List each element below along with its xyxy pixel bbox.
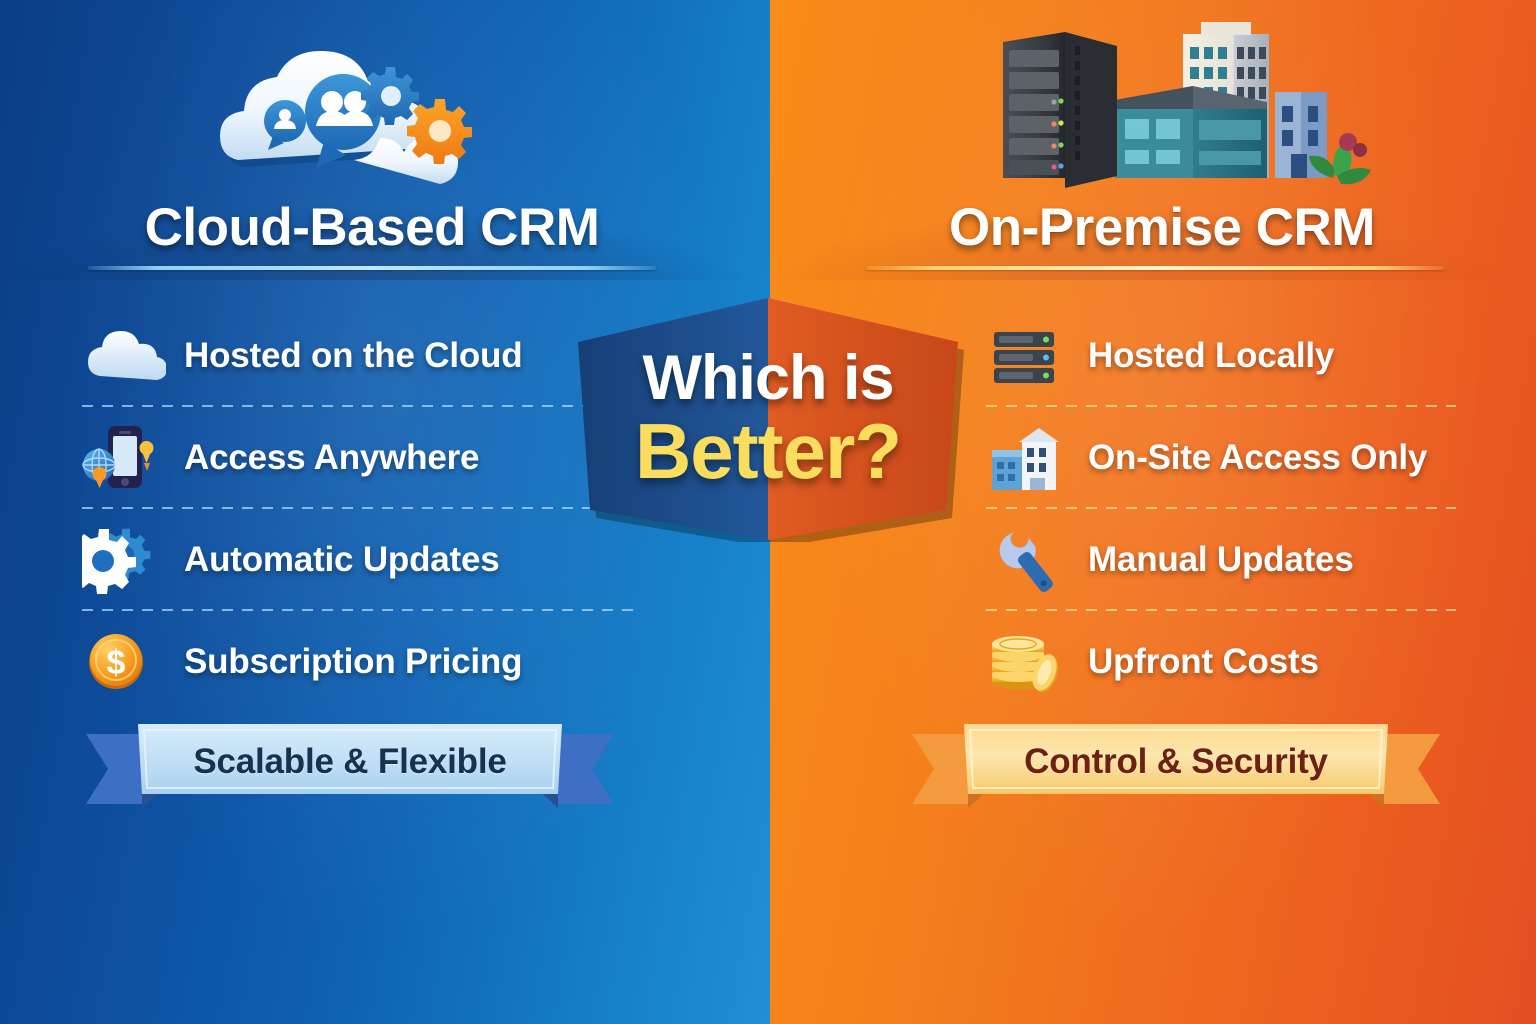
title-rule-left bbox=[88, 266, 656, 270]
svg-text:$: $ bbox=[107, 644, 126, 682]
control-security-ribbon: Control & Security bbox=[912, 716, 1440, 812]
on-premise-feature-list: Hosted Locally bbox=[986, 305, 1456, 713]
cloud-crm-illustration bbox=[198, 14, 538, 189]
list-item-label: Access Anywhere bbox=[184, 438, 479, 478]
list-item-label: Hosted on the Cloud bbox=[184, 336, 522, 376]
server-rack-icon bbox=[986, 318, 1070, 394]
mobile-globe-icon bbox=[82, 420, 166, 496]
scalable-flexible-ribbon: Scalable & Flexible bbox=[86, 716, 614, 812]
ribbon-label-left: Scalable & Flexible bbox=[86, 716, 614, 812]
cloud-feature-list: Hosted on the Cloud bbox=[82, 305, 642, 713]
badge-text-block: Which is Better? bbox=[566, 296, 970, 542]
cloud-icon bbox=[82, 318, 166, 394]
list-item[interactable]: $ Subscription Pricing bbox=[82, 611, 642, 713]
dollar-coin-icon: $ bbox=[82, 624, 166, 700]
list-item[interactable]: Access Anywhere bbox=[82, 407, 642, 509]
list-item[interactable]: On-Site Access Only bbox=[986, 407, 1456, 509]
list-item-label: Hosted Locally bbox=[1088, 336, 1334, 376]
page-title-right: On-Premise CRM bbox=[878, 196, 1446, 266]
coin-stack-icon bbox=[986, 624, 1070, 700]
list-item-label: Upfront Costs bbox=[1088, 642, 1319, 682]
office-building-icon bbox=[986, 420, 1070, 496]
list-item[interactable]: Hosted Locally bbox=[986, 305, 1456, 407]
badge-line-2: Better? bbox=[635, 412, 901, 490]
which-is-better-badge: Which is Better? bbox=[566, 296, 970, 542]
list-item[interactable]: Upfront Costs bbox=[986, 611, 1456, 713]
list-item-label: Subscription Pricing bbox=[184, 642, 522, 682]
gears-icon bbox=[82, 522, 166, 598]
list-item[interactable]: Manual Updates bbox=[986, 509, 1456, 611]
title-rule-right bbox=[866, 266, 1444, 270]
list-item[interactable]: Hosted on the Cloud bbox=[82, 305, 642, 407]
list-item-label: Manual Updates bbox=[1088, 540, 1354, 580]
ribbon-label-right: Control & Security bbox=[912, 716, 1440, 812]
list-item-label: On-Site Access Only bbox=[1088, 438, 1427, 478]
list-item-label: Automatic Updates bbox=[184, 540, 500, 580]
page-title-left: Cloud-Based CRM bbox=[88, 196, 656, 266]
list-item[interactable]: Automatic Updates bbox=[82, 509, 642, 611]
server-buildings-illustration bbox=[975, 14, 1375, 189]
wrench-icon bbox=[986, 522, 1070, 598]
badge-line-1: Which is bbox=[642, 348, 893, 410]
infographic-canvas: Cloud-Based CRM On-Premise CRM Hosted on… bbox=[0, 0, 1536, 1024]
